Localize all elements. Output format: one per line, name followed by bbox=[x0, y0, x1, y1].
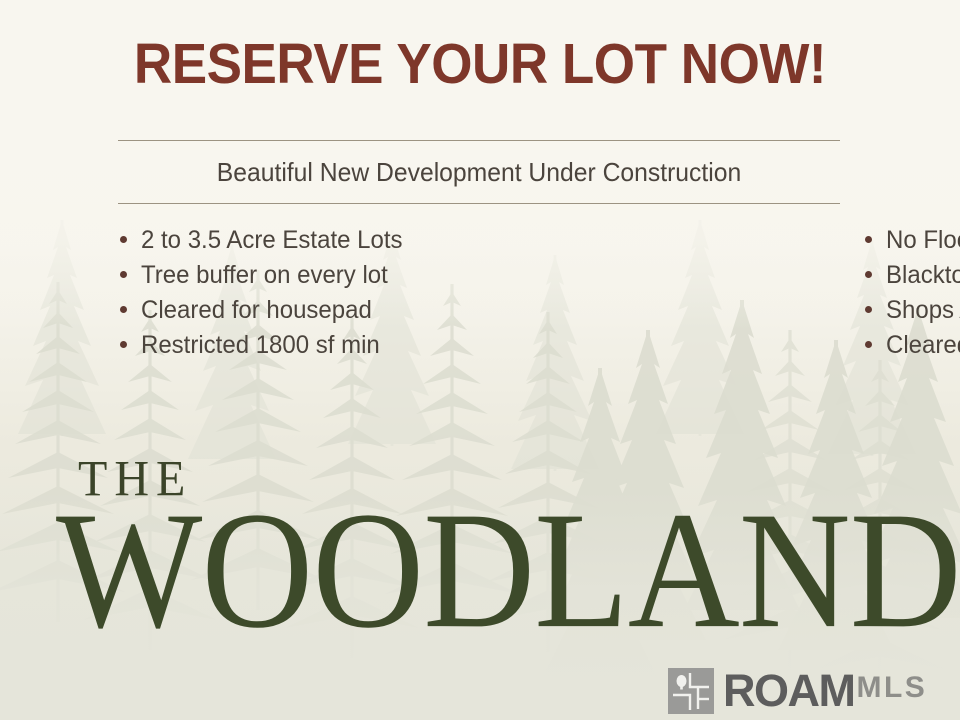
list-item-label: Restricted 1800 sf min bbox=[141, 330, 380, 360]
bullet-dot-icon bbox=[120, 236, 127, 243]
headline: RESERVE YOUR LOT NOW! bbox=[34, 33, 927, 95]
bullet-dot-icon bbox=[865, 236, 872, 243]
feature-list-left: 2 to 3.5 Acre Estate Lots Tree buffer on… bbox=[0, 225, 440, 365]
list-item-label: Shops Allowed bbox=[886, 295, 960, 325]
list-item: Tree buffer on every lot bbox=[120, 260, 440, 295]
list-item: Blacktop Road bbox=[865, 260, 960, 295]
list-item-label: Cleared for driveway bbox=[886, 330, 960, 360]
list-item: Cleared for housepad bbox=[120, 295, 440, 330]
feature-lists: 2 to 3.5 Acre Estate Lots Tree buffer on… bbox=[0, 225, 960, 365]
divider-bottom bbox=[118, 203, 840, 204]
bullet-dot-icon bbox=[865, 271, 872, 278]
bullet-dot-icon bbox=[865, 306, 872, 313]
feature-list-right: No Flood Zone Blacktop Road Shops Allowe… bbox=[440, 225, 960, 365]
roam-mls-logo: ROAM MLS bbox=[668, 668, 927, 714]
list-item-label: Cleared for housepad bbox=[141, 295, 372, 325]
list-item: Shops Allowed bbox=[865, 295, 960, 330]
wordmark-name: WOODLANDS bbox=[56, 486, 960, 653]
list-item-label: Blacktop Road bbox=[886, 260, 960, 290]
list-item-label: Tree buffer on every lot bbox=[141, 260, 388, 290]
bullet-dot-icon bbox=[120, 306, 127, 313]
bullet-dot-icon bbox=[120, 341, 127, 348]
list-item-label: No Flood Zone bbox=[886, 225, 960, 255]
real-estate-flyer: RESERVE YOUR LOT NOW! Beautiful New Deve… bbox=[0, 0, 960, 720]
bullet-dot-icon bbox=[865, 341, 872, 348]
list-item: Restricted 1800 sf min bbox=[120, 330, 440, 365]
roam-brand-text: ROAM bbox=[723, 668, 854, 714]
list-item: 2 to 3.5 Acre Estate Lots bbox=[120, 225, 440, 260]
list-item: No Flood Zone bbox=[865, 225, 960, 260]
mls-suffix-text: MLS bbox=[856, 665, 927, 711]
floorplan-tile-icon bbox=[668, 668, 714, 714]
list-item: Cleared for driveway bbox=[865, 330, 960, 365]
bullet-dot-icon bbox=[120, 271, 127, 278]
divider-top bbox=[118, 140, 840, 141]
subtitle: Beautiful New Development Under Construc… bbox=[136, 153, 822, 191]
list-item-label: 2 to 3.5 Acre Estate Lots bbox=[141, 225, 402, 255]
